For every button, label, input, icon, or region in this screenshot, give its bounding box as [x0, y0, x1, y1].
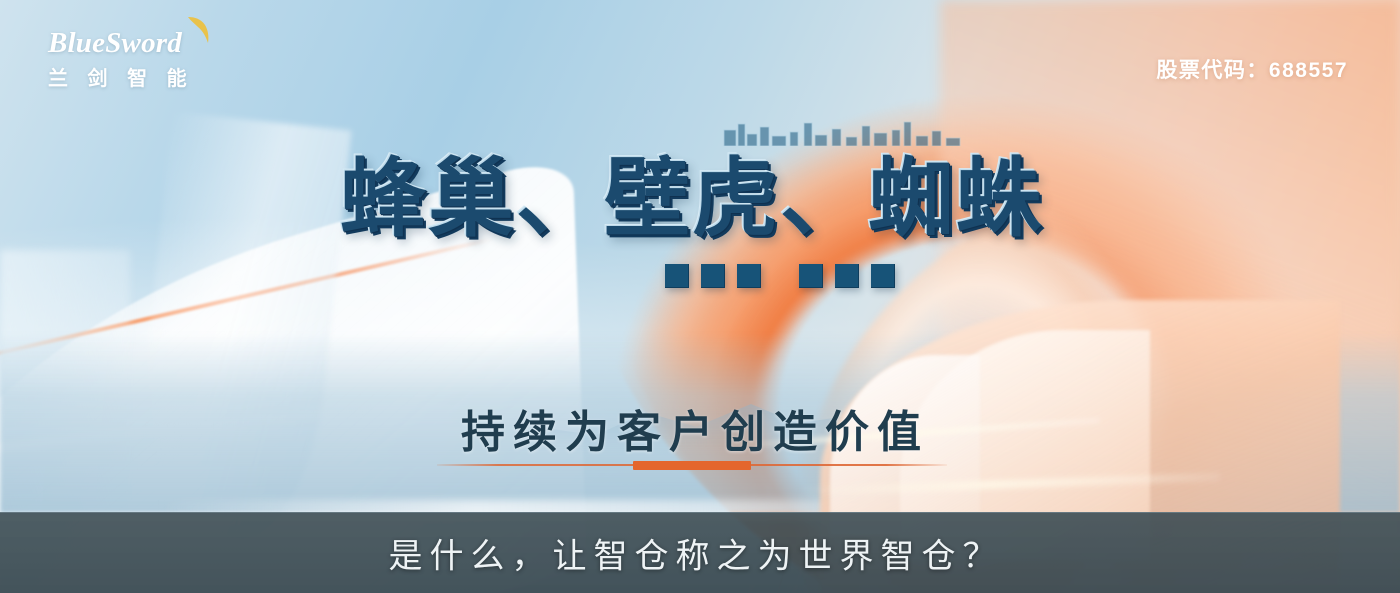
slogan-underline: [0, 464, 1392, 466]
ellipsis-square: [835, 264, 859, 288]
orange-sweep-secondary: [552, 0, 1400, 593]
ellipsis-square: [799, 264, 823, 288]
brand-logo[interactable]: BlueSword 兰 剑 智 能: [48, 28, 258, 91]
warm-right-wash: [940, 0, 1400, 593]
slogan-text: 持续为客户创造价值: [0, 396, 1395, 460]
brand-name-en: BlueSword: [48, 28, 258, 58]
ellipsis-group: [665, 264, 761, 288]
right-curve-light-strip-lower: [800, 473, 1220, 496]
swoosh-check-icon: [185, 14, 219, 48]
stock-code-label: 股票代码：688557: [1156, 54, 1348, 84]
video-frame: BlueSword 兰 剑 智 能 股票代码：688557 蜂巢、壁虎、蜘蛛 持…: [0, 0, 1400, 593]
page-title: 蜂巢、壁虎、蜘蛛: [0, 128, 1392, 253]
ellipsis-square: [871, 264, 895, 288]
ellipsis-square: [701, 264, 725, 288]
ellipsis-marker: [80, 264, 1400, 288]
ellipsis-group: [799, 264, 895, 288]
ellipsis-square: [737, 264, 761, 288]
brand-name-cn: 兰 剑 智 能: [48, 62, 258, 91]
caption-band: 是什么，让智仓称之为世界智仓？: [0, 512, 1400, 593]
ellipsis-square: [665, 264, 689, 288]
orange-sweep-primary: [468, 0, 1400, 593]
underline-accent: [633, 461, 751, 470]
underline-thin: [437, 464, 947, 466]
left-ceiling-edge-light: [0, 237, 493, 367]
caption-text: 是什么，让智仓称之为世界智仓？: [0, 529, 1396, 578]
